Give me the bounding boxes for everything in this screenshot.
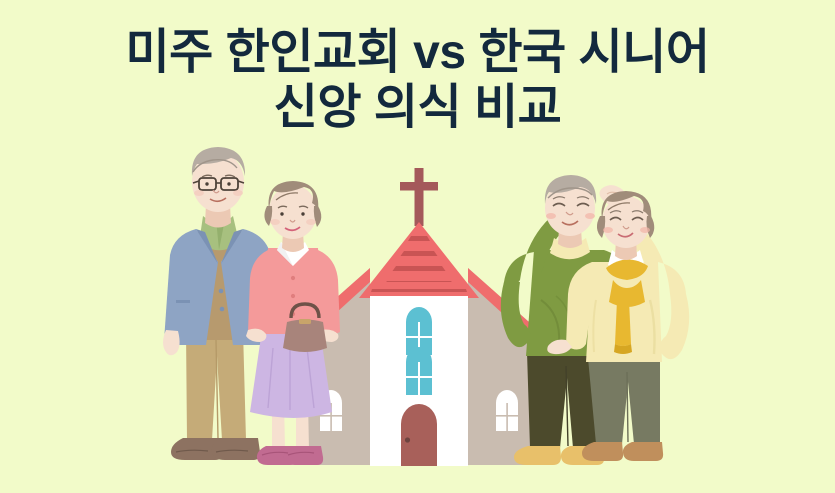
church-door [401, 404, 437, 466]
church-cross-icon [400, 168, 438, 226]
church-tower-windows [406, 307, 432, 395]
poster-canvas: 미주 한인교회 vs 한국 시니어 신앙 의식 비교 [0, 0, 835, 493]
illustration-artwork [0, 0, 835, 493]
